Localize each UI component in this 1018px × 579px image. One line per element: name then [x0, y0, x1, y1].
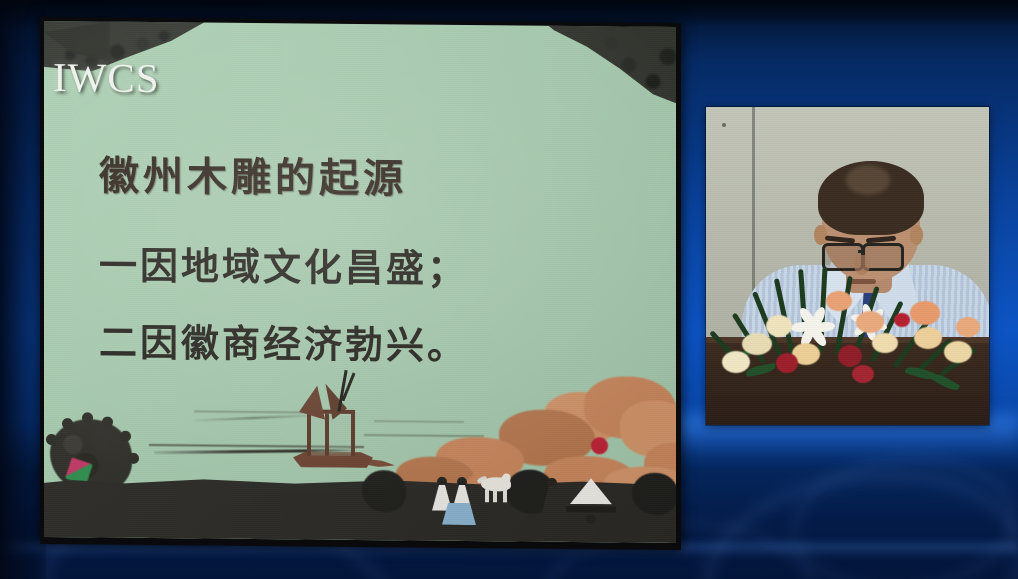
bush-spike-icon [102, 417, 113, 428]
horse-leg-icon [493, 489, 497, 502]
bush-spike-icon [120, 431, 131, 442]
brush-line-icon [194, 410, 304, 413]
bush-spike-icon [62, 418, 73, 429]
dark-tree-icon [362, 470, 406, 512]
red-carnation-icon [852, 365, 874, 383]
boat-awning-left-icon [299, 385, 325, 419]
canopy-figure-head-icon [586, 514, 596, 524]
river-boat-icon [289, 367, 379, 468]
cream-flower-icon [722, 351, 750, 373]
projection-screen: IWCS 徽州木雕的起源 一因地域文化昌盛； 二因徽商经济勃兴。 [40, 17, 681, 550]
bush-spike-icon [128, 453, 139, 464]
red-carnation-icon [776, 353, 798, 373]
slide-surface: IWCS 徽州木雕的起源 一因地域文化昌盛； 二因徽商经济勃兴。 [44, 21, 676, 543]
peach-flower-icon [956, 317, 980, 337]
robed-figure-icon [542, 478, 562, 512]
robed-figure-icon [442, 495, 476, 519]
red-carnation-icon [894, 313, 910, 327]
broadcast-stage: IWCS 徽州木雕的起源 一因地域文化昌盛； 二因徽商经济勃兴。 [0, 0, 1018, 579]
boat-cabin-post-icon [325, 414, 329, 456]
ink-corner-top-right-icon [536, 21, 676, 107]
dark-tree-icon [632, 473, 676, 515]
presenter-video-inset[interactable] [706, 107, 989, 425]
flower-arrangement [706, 265, 989, 385]
horse-leg-icon [485, 489, 489, 502]
wall-mark-icon [722, 123, 726, 127]
cream-flower-icon [766, 315, 792, 337]
slide-artwork [44, 357, 676, 543]
boat-cabin-icon [307, 409, 355, 455]
bush-spike-icon [46, 434, 57, 445]
presenter-ear-right [910, 225, 923, 245]
bush-spike-icon [82, 412, 93, 423]
brush-line-icon [374, 420, 464, 423]
horse-leg-icon [503, 489, 507, 502]
cream-flower-icon [944, 341, 972, 363]
red-carnation-icon [838, 345, 862, 367]
peach-flower-icon [910, 301, 940, 325]
glasses-bridge-icon [858, 250, 864, 253]
figure-robe-icon [442, 503, 476, 525]
iwcs-watermark: IWCS [53, 53, 160, 102]
red-sun-icon [591, 437, 608, 454]
cream-flower-icon [872, 333, 898, 353]
figure-robe-icon [542, 486, 562, 512]
slide-title: 徽州木雕的起源 [99, 143, 407, 204]
white-horse-icon [477, 473, 517, 503]
presenter-ear-left [814, 225, 827, 245]
slide-body-line-1: 一因地域文化昌盛； [99, 234, 468, 293]
peach-flower-icon [826, 291, 852, 311]
canopy-base-icon [566, 506, 616, 512]
cream-flower-icon [914, 327, 942, 349]
peach-flower-icon [856, 311, 884, 333]
presenter-hair-highlight [846, 165, 890, 195]
cream-flower-icon [742, 333, 772, 355]
green-leaf-icon [745, 363, 776, 377]
